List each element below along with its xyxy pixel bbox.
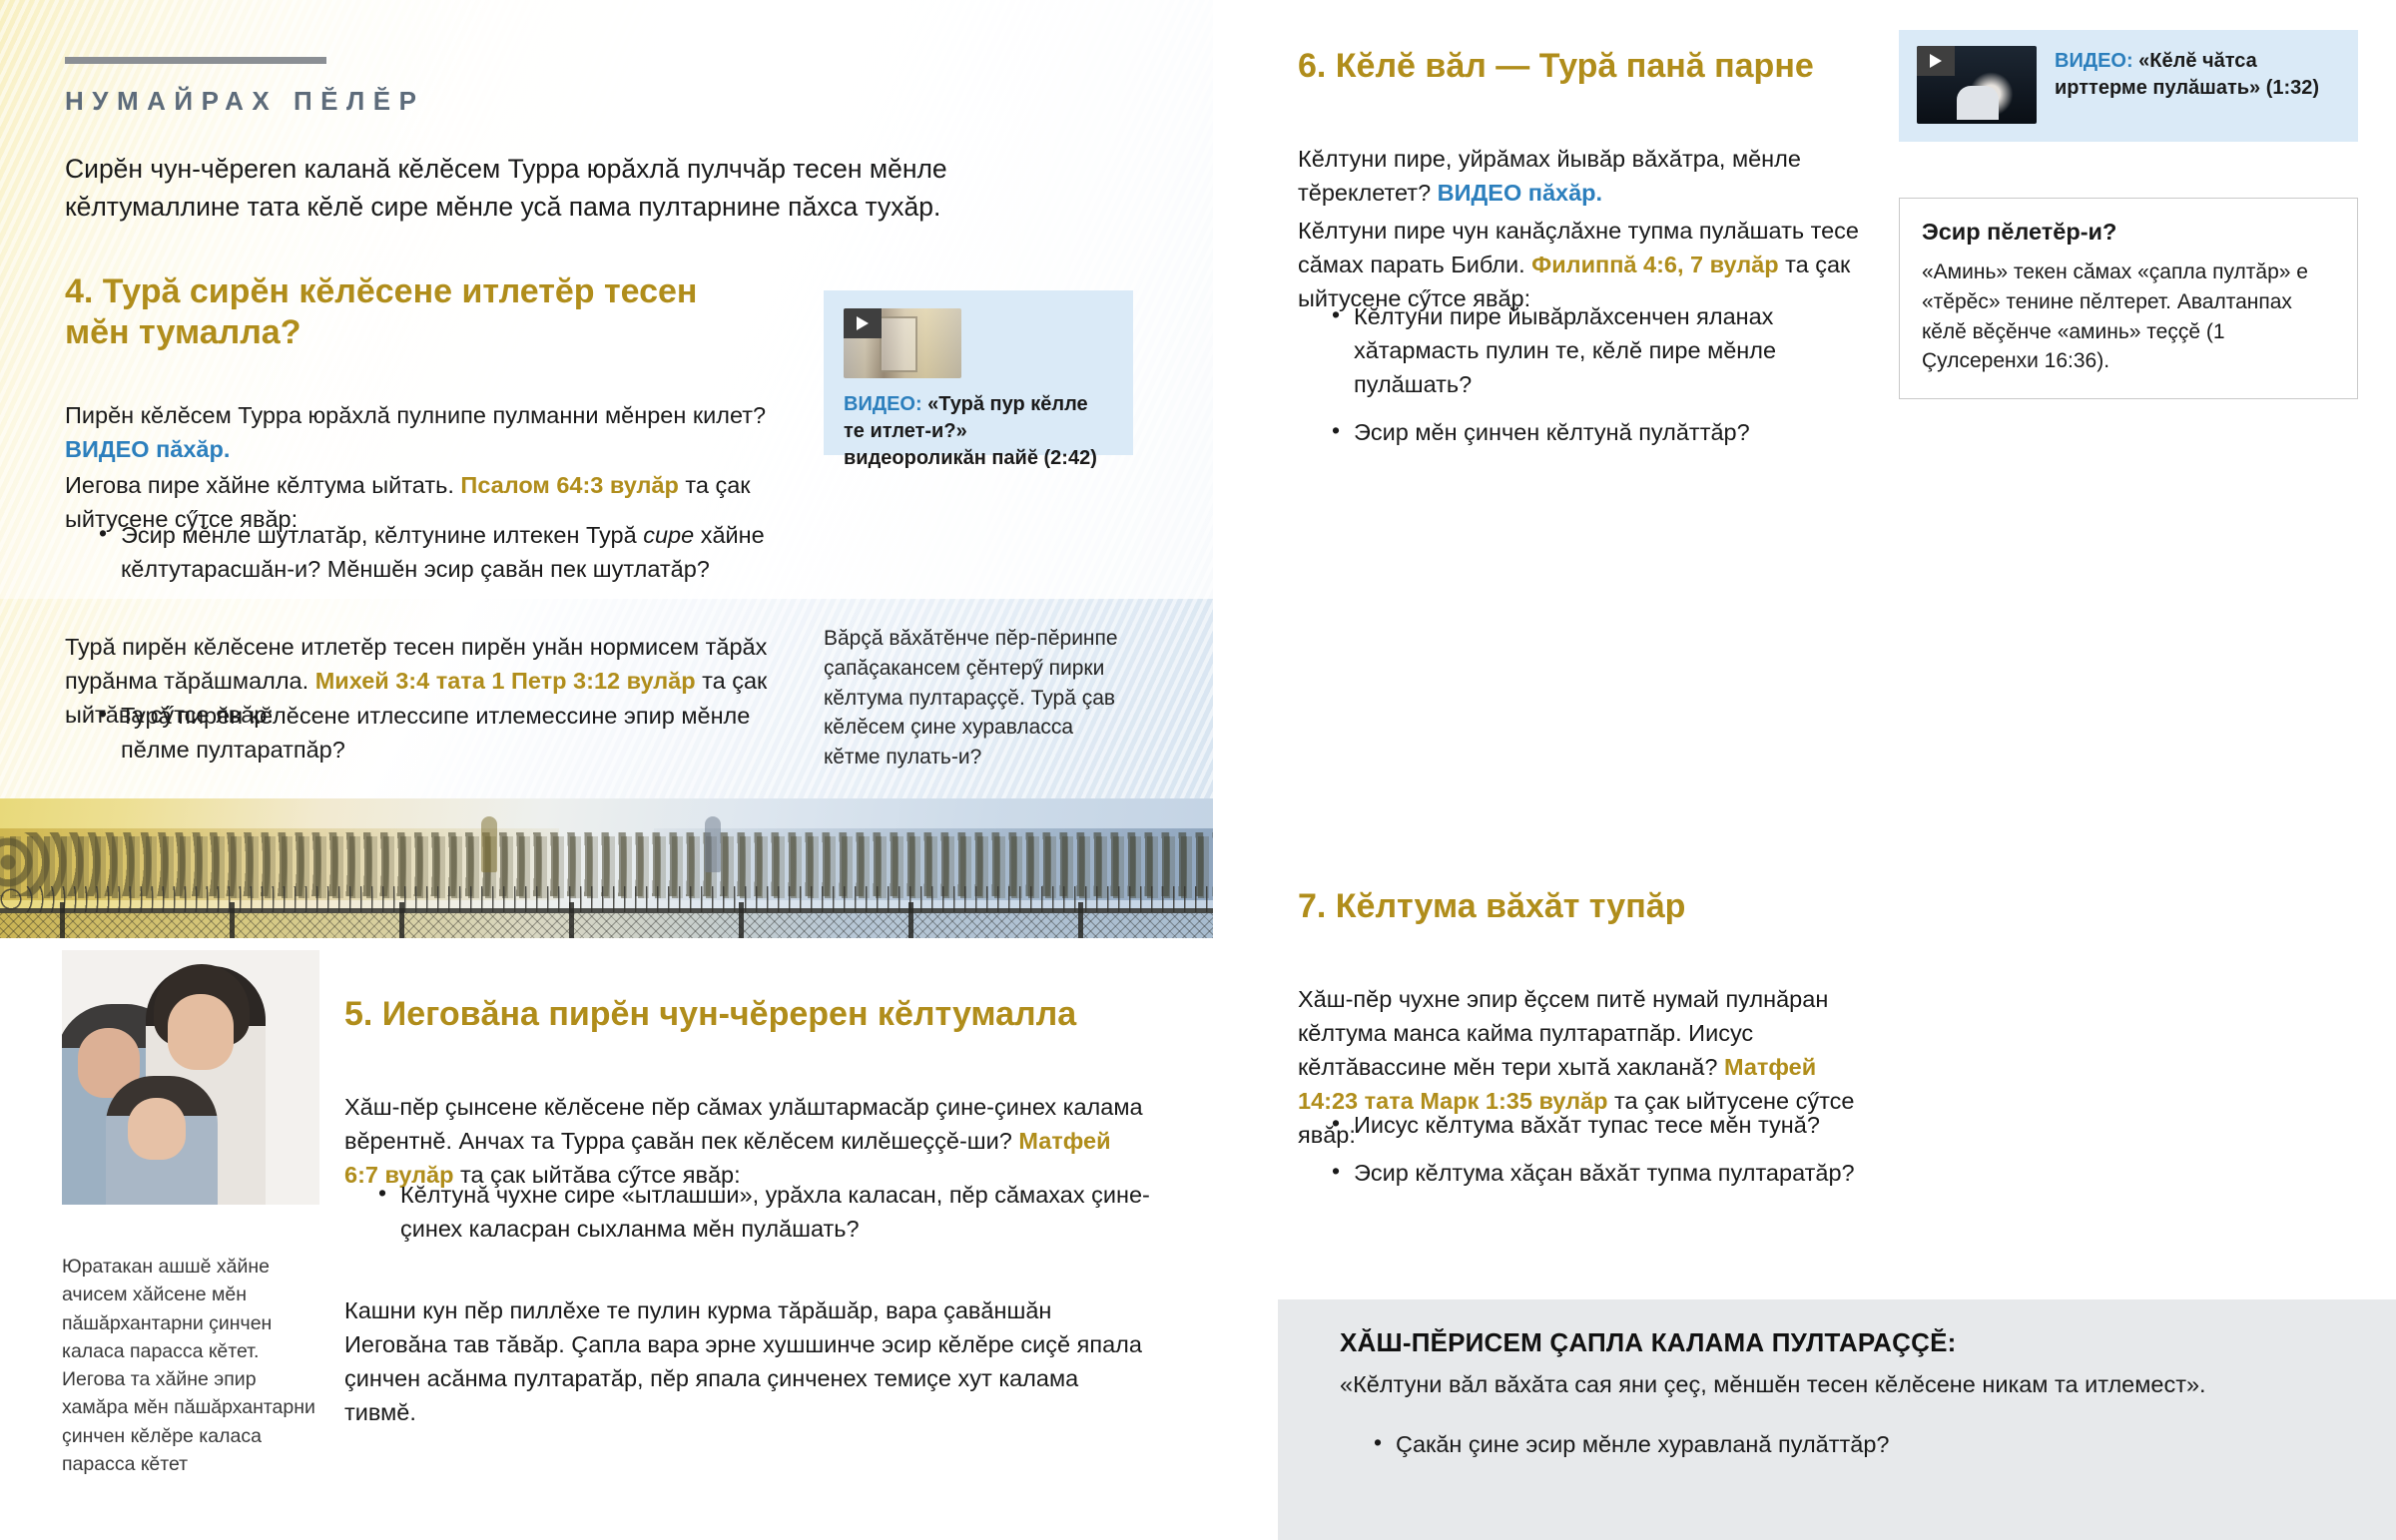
section-6-heading: 6. Кӗлӗ вӑл — Турӑ панӑ парне [1298,46,1917,87]
list-item: Çакӑн çине эсир мӗнле хуравланӑ пулӑттӑр… [1374,1427,2392,1461]
objection-quote: «Кӗлтуни вӑл вӑхӑта сая яни çеç, мӗншӗн … [1278,1367,2356,1401]
objection-quote-text: «Кӗлтуни вӑл вӑхӑта сая яни çеç, мӗншӗн … [1340,1371,2206,1397]
section-6-paragraph-1: Кӗлтуни пире, уйрӑмах йывӑр вӑхӑтра, мӗн… [1298,142,1857,210]
section-5-paragraph-2: Кашни кун пӗр пиллӗхе те пулин курма тӑр… [344,1293,1143,1429]
video-label: ВИДЕО: [2055,50,2133,72]
objection-band-title: ХӐШ-ПӖРИСЕМ ÇАПЛА КАЛАМА ПУЛТАРАÇÇӖ: [1278,1327,2396,1358]
objection-bullet-list: Çакӑн çине эсир мӗнле хуравланӑ пулӑттӑр… [1278,1427,2392,1475]
section-4-bullet-list-2: Турӑ пирӗн кӗлӗсене итлессипе итлемессин… [65,699,798,780]
scripture-ref-philippians[interactable]: Филиппӑ 4:6, 7 вулӑр [1531,252,1778,277]
video-thumbnail[interactable] [1917,46,2037,124]
section-5-paragraph-1: Хӑш-пӗр çынсене кӗлӗсене пӗр сӑмах улӑшт… [344,1090,1143,1192]
objection-title-text: ХӐШ-ПӖРИСЕМ ÇАПЛА КАЛАМА ПУЛТАРАÇÇӖ: [1340,1327,1956,1357]
section-eyebrow: НУМАЙРАХ ПӖЛӖР [65,86,424,117]
video-card-left[interactable]: ВИДЕО: «Турӑ пур кӗлле те итлет-и?» виде… [824,290,1133,455]
section-5-bullet-list: Кӗлтунӑ чухне сире «ытлашши», урӑхла кал… [344,1178,1167,1260]
video-card-right[interactable]: ВИДЕО: «Кӗлӗ чӑтса ирттерме пулӑшать» (1… [1899,30,2358,142]
family-praying-photo [62,950,319,1205]
video-thumbnail[interactable] [844,308,961,378]
video-caption: ВИДЕО: «Кӗлӗ чӑтса ирттерме пулӑшать» (1… [2055,48,2340,102]
section-4-bullet-list-1: Эсир мӗнле шутлатӑр, кӗлтунине илтекен Т… [65,518,798,600]
side-note-text: Вӑрçӑ вӑхӑтӗнче пӗр-пӗринпе çапӑçакансем… [824,624,1123,772]
list-item: Кӗлтунӑ чухне сире «ытлашши», урӑхла кал… [378,1178,1167,1246]
s4-p1-text: Пирӗн кӗлӗсем Турра юрӑхлӑ пулнипе пулма… [65,402,766,428]
did-you-know-box: Эсир пӗлетӗр-и? «Аминь» текен сӑмах «çап… [1899,198,2358,399]
section-7-bullet-list: Иисус кӗлтума вӑхӑт тупас тесе мӗн тунӑ?… [1298,1108,1916,1204]
s4-b1-emphasis: сире [643,522,694,548]
video-link-2[interactable]: ВИДЕО пӑхӑр. [1438,180,1602,206]
scripture-ref-psalm[interactable]: Псалом 64:3 вулӑр [460,472,678,498]
section-7-heading: 7. Кӗлтума вӑхӑт тупӑр [1298,886,1917,927]
left-page: НУМАЙРАХ ПӖЛӖР Сирӗн чун-чӗреren каланӑ … [0,0,1213,1540]
list-item: Эсир мӗнле шутлатӑр, кӗлтунине илтекен Т… [99,518,798,586]
list-item: Турӑ пирӗн кӗлӗсене итлессипе итлемессин… [99,699,798,767]
s4-b1-a: Эсир мӗнле шутлатӑр, кӗлтунине илтекен Т… [121,522,643,548]
list-item: Кӗлтуни пире йывӑрлӑхсенчен яланах хӑтар… [1332,299,1891,401]
list-item: Иисус кӗлтума вӑхӑт тупас тесе мӗн тунӑ? [1332,1108,1916,1142]
list-item: Эсир мӗн çинчен кӗлтунӑ пулӑттӑр? [1332,415,1891,449]
video-caption: ВИДЕО: «Турӑ пур кӗлле те итлет-и?» виде… [844,391,1113,473]
header-rule [65,57,326,64]
list-item: Эсир кӗлтума хӑçан вӑхӑт тупма пултаратӑ… [1332,1156,1916,1190]
section-4-heading: 4. Турӑ сирӗн кӗлӗсене итлетӗр тесен мӗн… [65,271,764,354]
play-icon[interactable] [844,308,882,338]
section-6-bullet-list: Кӗлтуни пире йывӑрлӑхсенчен яланах хӑтар… [1298,299,1891,463]
video-label: ВИДЕО: [844,393,922,415]
video-link-1[interactable]: ВИДЕО пӑхӑр. [65,436,230,462]
did-you-know-body: «Аминь» текен сӑмах «çапла пултӑр» е «тӗ… [1922,257,2335,376]
section-5-heading: 5. Иеговӑна пирӗн чун-чӗререн кӗлтумалла [344,994,1163,1035]
photo-caption: Юратакан ашшӗ хӑйне ачисем хӑйсене мӗн п… [62,1253,326,1478]
intro-paragraph: Сирӗн чун-чӗреren каланӑ кӗлӗсем Турра ю… [65,150,1023,227]
crowd-fence-illustration [0,798,1213,938]
did-you-know-title: Эсир пӗлетӗр-и? [1922,219,2335,246]
scripture-ref-micah-peter[interactable]: Михей 3:4 тата 1 Петр 3:12 вулӑр [315,668,696,694]
s4-p2-text-a: Иегова пире хӑйне кӗлтума ыйтать. [65,472,460,498]
two-page-spread: НУМАЙРАХ ПӖЛӖР Сирӗн чун-чӗреren каланӑ … [0,0,2396,1540]
play-icon[interactable] [1917,46,1955,76]
section-4-paragraph-1: Пирӗн кӗлӗсем Турра юрӑхлӑ пулнипе пулма… [65,398,804,466]
